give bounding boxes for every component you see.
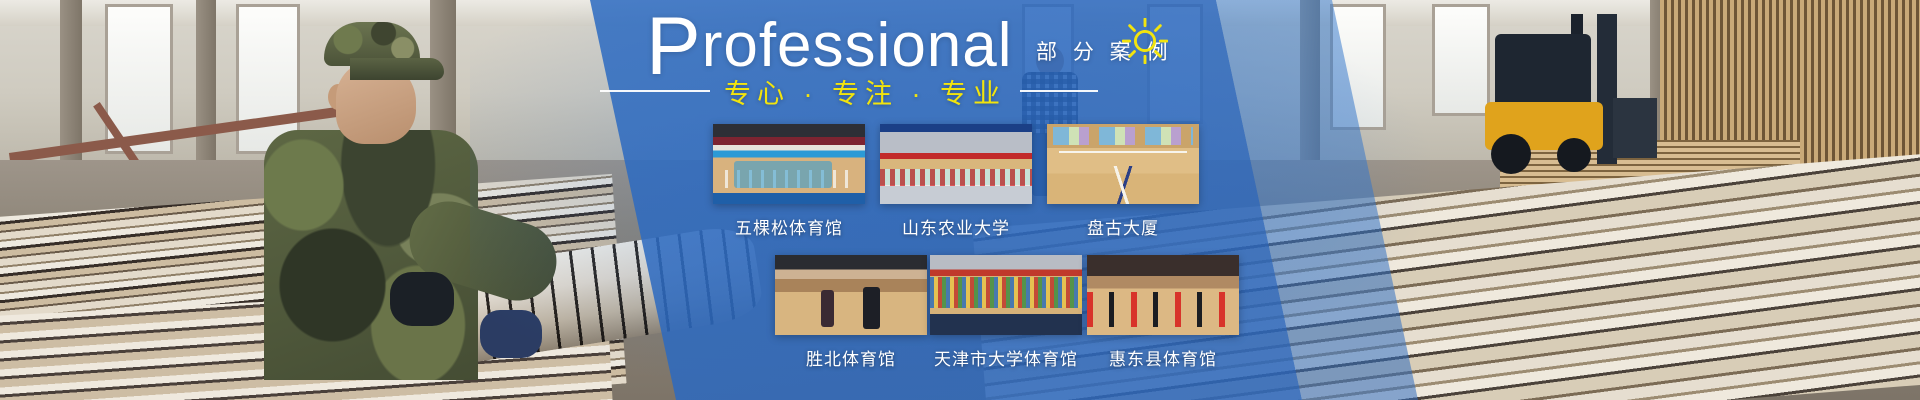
case-label: 盘古大厦 [1047, 214, 1199, 239]
case-card[interactable]: 盘古大厦 [1047, 124, 1199, 239]
case-card[interactable]: 天津市大学体育馆 [930, 255, 1082, 370]
case-label: 山东农业大学 [880, 214, 1032, 239]
case-thumbnail-image[interactable] [880, 124, 1032, 204]
sun-icon [1122, 18, 1168, 64]
case-card[interactable]: 五棵松体育馆 [713, 124, 865, 239]
case-label: 天津市大学体育馆 [930, 345, 1082, 370]
case-thumbnail-image[interactable] [930, 255, 1082, 335]
banner-stage: Professional 部 分 案 例 专心 · 专注 · 专业 [0, 0, 1920, 400]
case-label: 五棵松体育馆 [713, 214, 865, 239]
divider-right [1020, 90, 1098, 92]
subtitle-row: 专心 · 专注 · 专业 [600, 74, 1220, 108]
case-thumbnail-image[interactable] [775, 255, 927, 335]
case-thumbnail-image[interactable] [1047, 124, 1199, 204]
case-card[interactable]: 惠东县体育馆 [1087, 255, 1239, 370]
case-thumbnail-image[interactable] [1087, 255, 1239, 335]
divider-left [600, 90, 710, 92]
case-card[interactable]: 山东农业大学 [880, 124, 1032, 239]
case-thumbnail-image[interactable] [713, 124, 865, 204]
subtitle: 专心 · 专注 · 专业 [724, 72, 1006, 111]
case-label: 胜北体育馆 [775, 345, 927, 370]
banner-content: Professional 部 分 案 例 专心 · 专注 · 专业 [0, 0, 1920, 400]
case-card[interactable]: 胜北体育馆 [775, 255, 927, 370]
page-title-rest: rofessional [702, 11, 1013, 80]
case-label: 惠东县体育馆 [1087, 345, 1239, 370]
